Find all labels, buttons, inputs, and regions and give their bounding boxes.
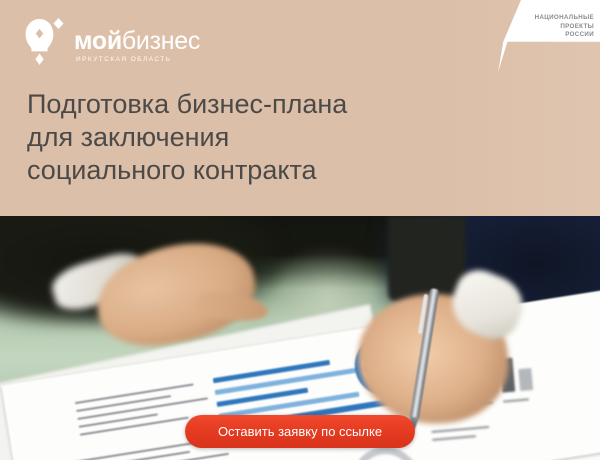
- badge-line-1: НАЦИОНАЛЬНЫЕ: [535, 14, 594, 23]
- promo-banner: мойбизнес ИРКУТСКАЯ ОБЛАСТЬ НАЦИОНАЛЬНЫЕ…: [0, 0, 600, 460]
- badge-line-3: РОССИИ: [535, 31, 594, 40]
- brand-logo[interactable]: мойбизнес ИРКУТСКАЯ ОБЛАСТЬ: [24, 16, 200, 72]
- badge-text: НАЦИОНАЛЬНЫЕ ПРОЕКТЫ РОССИИ: [535, 14, 594, 40]
- badge-line-2: ПРОЕКТЫ: [535, 23, 594, 32]
- national-projects-badge: НАЦИОНАЛЬНЫЕ ПРОЕКТЫ РОССИИ: [496, 0, 600, 72]
- submit-application-button[interactable]: Оставить заявку по ссылке: [185, 415, 415, 448]
- page-title: Подготовка бизнес-плана для заключения с…: [27, 88, 347, 187]
- logo-region-label: ИРКУТСКАЯ ОБЛАСТЬ: [74, 56, 200, 63]
- logo-word-light: бизнес: [122, 27, 200, 55]
- headline-line-3: социального контракта: [27, 154, 347, 187]
- logo-wordmark: мойбизнес: [74, 28, 200, 54]
- logo-wordmark-block: мойбизнес ИРКУТСКАЯ ОБЛАСТЬ: [74, 28, 200, 63]
- headline-line-1: Подготовка бизнес-плана: [27, 88, 347, 121]
- rocket-pin-icon: [24, 16, 66, 72]
- logo-word-bold: мой: [74, 27, 122, 55]
- headline-line-2: для заключения: [27, 121, 347, 154]
